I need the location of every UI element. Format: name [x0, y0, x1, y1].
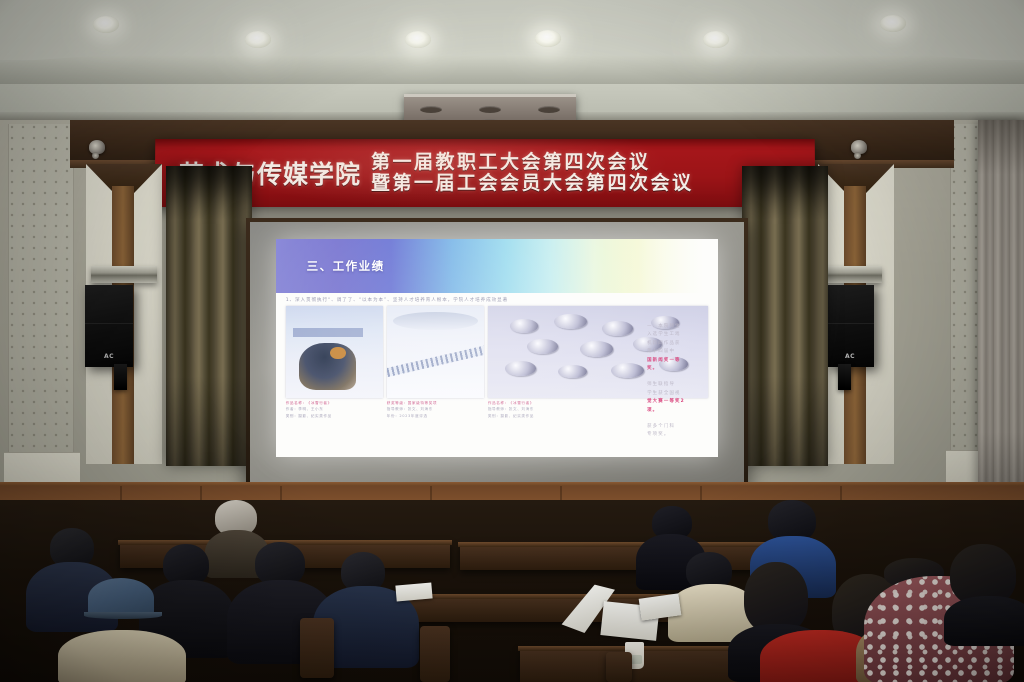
recessed-downlight [405, 31, 431, 48]
paper-sheet [395, 582, 432, 601]
banner-title-lines: 第一届教职工大会第四次会议 暨第一届工会会员大会第四次会议 [361, 152, 694, 193]
presentation-slide: 三、工作业绩 1、深入贯彻执行“、调了了、“以本为本”、坚持人才培养育人根本，学… [276, 239, 718, 457]
speaker-mount-left [114, 364, 127, 390]
ceiling-recess [0, 0, 1024, 60]
recessed-downlight [93, 16, 119, 33]
slide-right-spacer [647, 374, 709, 379]
caption-line: 指导教师：张文、刘海东 [387, 407, 484, 412]
slide-right-line: 学生获全国视 [647, 390, 709, 396]
slide-body-line: 1、深入贯彻执行“、调了了、“以本为本”、坚持人才培养育人根本，学院人才培养成效… [286, 297, 708, 303]
texture-bump [527, 339, 558, 354]
caption-column: 获奖等级：国家级特等奖项 指导教师：张文、刘海东 年份：2023年度评选 [387, 401, 484, 421]
stage-spotlight [89, 140, 105, 154]
slide-right-text-column: 一、本院师生 入选学生工戏 机新闻作品获 第十四届中 国新闻奖一等 奖。 师生联… [647, 323, 709, 440]
slide-right-line-highlight: 国新闻奖一等 [647, 357, 709, 363]
audience-desk [460, 544, 780, 570]
attendee-cap-brim [84, 612, 162, 619]
slide-right-line: 机新闻作品获 [647, 340, 709, 346]
recessed-downlight [245, 31, 271, 48]
slide-right-line-highlight: 项。 [647, 407, 709, 413]
wall-speaker-right: AC [826, 285, 874, 367]
speaker-mount-right [838, 364, 851, 390]
window-curtain [978, 120, 1024, 510]
banner-line-2: 暨第一届工会会员大会第四次会议 [371, 173, 694, 194]
speaker-divider [826, 323, 874, 324]
stage-curtain-right [742, 166, 828, 466]
caption-line: 作者：李明、王小东 [286, 407, 383, 412]
slide-image-fieldwork [286, 306, 383, 397]
chair-back [606, 652, 632, 682]
texture-bump [558, 365, 587, 379]
slide-right-line: 一、本院师生 [647, 323, 709, 329]
texture-bump [510, 319, 539, 333]
slide-header-band: 三、工作业绩 [276, 239, 718, 294]
recessed-downlight [880, 15, 906, 32]
vent-hole [420, 106, 442, 113]
chair-back [420, 626, 450, 682]
speaker-divider [85, 323, 133, 324]
conference-hall-scene: 艺术与传媒学院 第一届教职工大会第四次会议 暨第一届工会会员大会第四次会议 AC… [0, 0, 1024, 682]
slide-right-line: 入选学生工戏 [647, 331, 709, 337]
caption-line: 类别：摄影、纪实类作品 [286, 414, 383, 419]
caption-line: 年份：2023年度评选 [387, 414, 484, 419]
slide-image-bridge [387, 306, 484, 397]
vent-hole [538, 106, 560, 113]
attendee-body [58, 630, 186, 682]
slide-caption-row-1: 作品名称：《冰雪行者》 作者：李明、王小东 类别：摄影、纪实类作品 获奖等级：国… [286, 401, 708, 421]
texture-bump [611, 363, 644, 378]
recessed-downlight [703, 31, 729, 48]
event-banner: 艺术与传媒学院 第一届教职工大会第四次会议 暨第一届工会会员大会第四次会议 [155, 139, 816, 207]
speaker-logo: AC [845, 353, 855, 360]
slide-right-spacer [647, 415, 709, 420]
slide-right-line-highlight: 觉大赛一等奖2 [647, 398, 709, 404]
recessed-downlight [535, 30, 561, 47]
acoustic-wall-panel-left [8, 124, 74, 456]
vent-hole [479, 106, 501, 113]
slide-image-caption-overlay [293, 328, 363, 337]
slide-right-line: 师生联指导 [647, 381, 709, 387]
texture-bump [505, 361, 536, 376]
stage-curtain-left [166, 166, 252, 466]
slide-right-line: 获多个门科 [647, 423, 709, 429]
caption-column: 作品名称：《冰雪行者》 作者：李明、王小东 类别：摄影、纪实类作品 [286, 401, 383, 421]
stage-spotlight [851, 140, 867, 154]
slide-right-line-highlight: 奖。 [647, 365, 709, 371]
slide-right-line: 第十四届中 [647, 348, 709, 354]
audience-area [0, 500, 1024, 682]
caption-line: 作品名称：《冰雪行者》 [286, 401, 383, 406]
slide-header-fade [603, 239, 718, 294]
texture-bump [602, 321, 633, 336]
speaker-logo: AC [104, 353, 114, 360]
chair-back [300, 618, 334, 678]
banner-line-1: 第一届教职工大会第四次会议 [371, 152, 694, 173]
projection-screen-frame: 三、工作业绩 1、深入贯彻执行“、调了了、“以本为本”、坚持人才培养育人根本，学… [246, 218, 748, 486]
texture-bump [554, 314, 587, 329]
attendee-body [944, 596, 1024, 646]
slide-body: 1、深入贯彻执行“、调了了、“以本为本”、坚持人才培养育人根本，学院人才培养成效… [276, 293, 718, 457]
texture-bump [580, 341, 613, 356]
projection-screen-surface: 三、工作业绩 1、深入贯彻执行“、调了了、“以本为本”、坚持人才培养育人根本，学… [250, 222, 744, 482]
slide-right-line: 专项奖。 [647, 431, 709, 437]
speaker-shelf-left [91, 266, 157, 283]
slide-title: 三、工作业绩 [307, 258, 385, 274]
wall-speaker-left: AC [85, 285, 133, 367]
audience-desk-top [458, 542, 782, 547]
caption-line: 获奖等级：国家级特等奖项 [387, 401, 484, 406]
slide-image-row [286, 306, 708, 397]
